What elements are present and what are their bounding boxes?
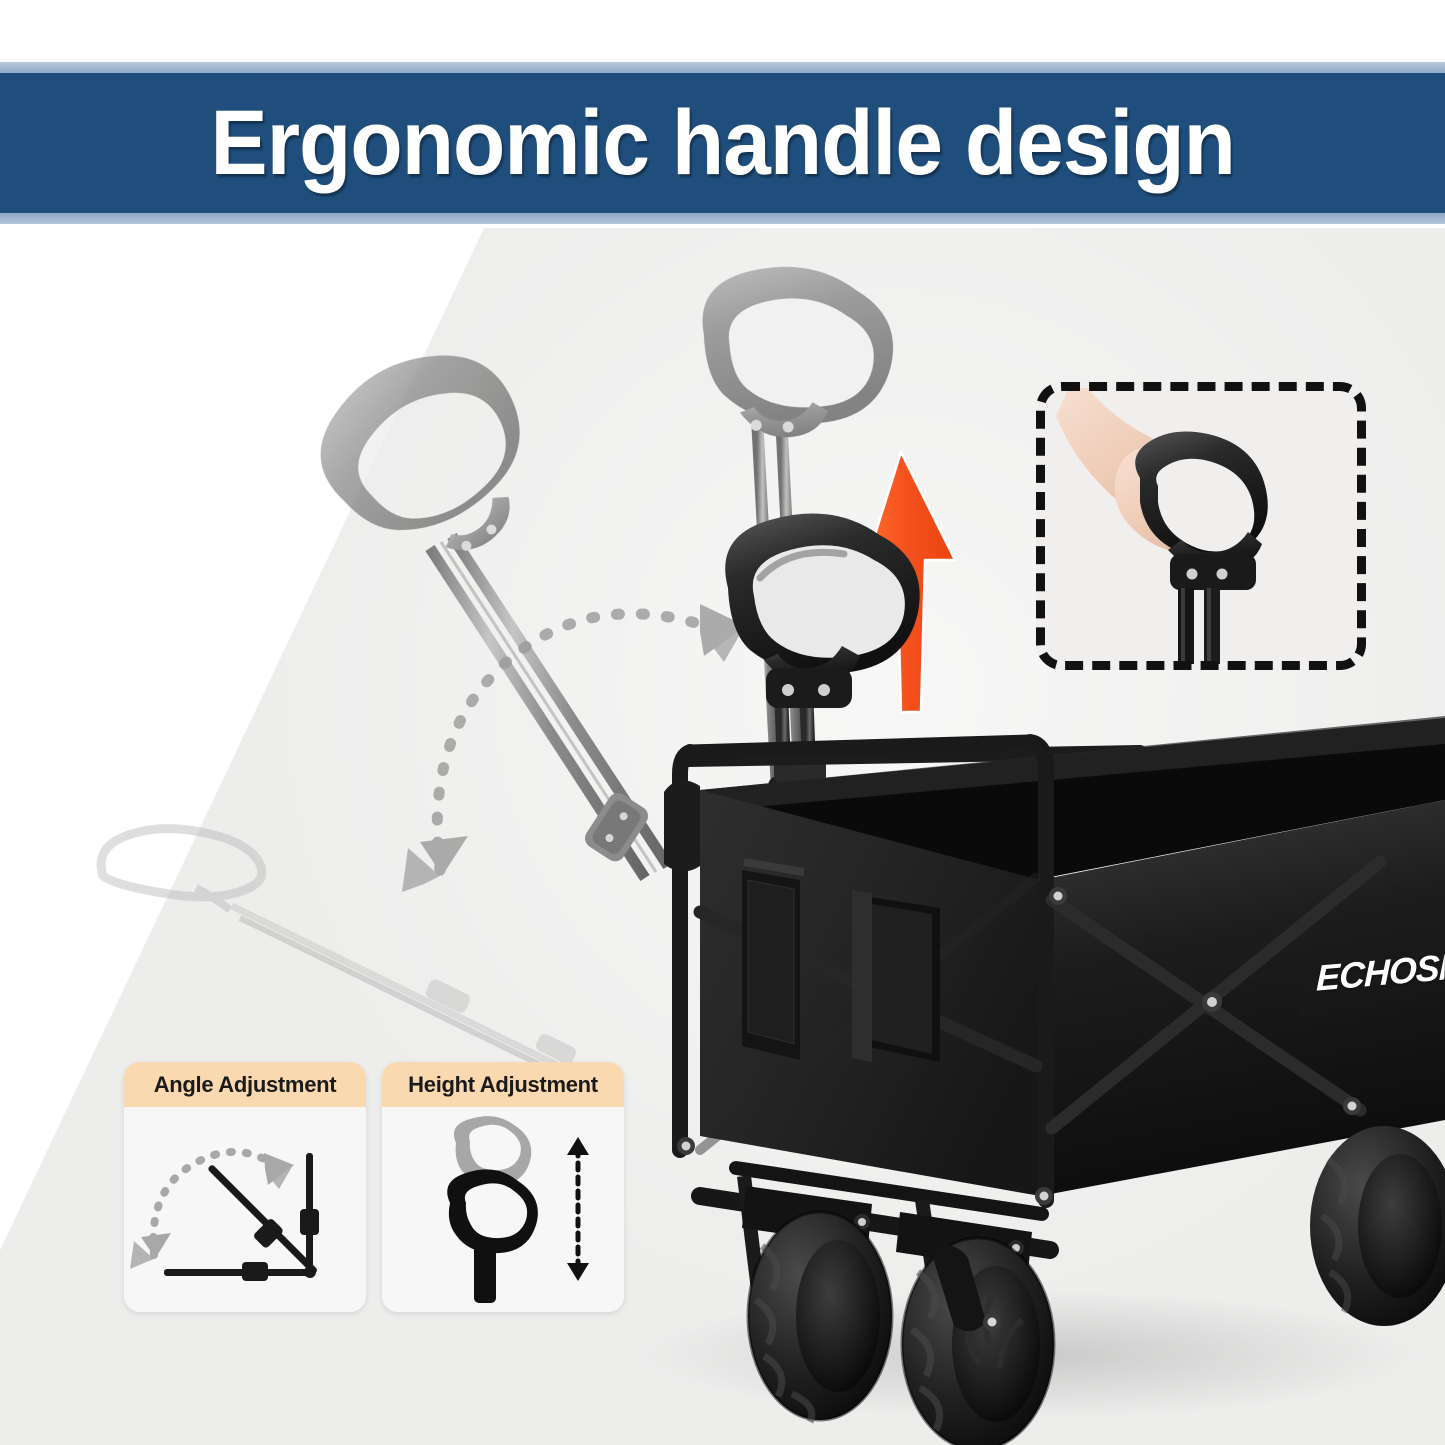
card-title-angle: Angle Adjustment — [154, 1072, 337, 1098]
card-header: Angle Adjustment — [124, 1062, 366, 1107]
inset-dashed-border — [1036, 382, 1366, 670]
card-header: Height Adjustment — [382, 1062, 624, 1107]
wheel-front-right — [902, 1238, 1054, 1445]
infographic-page: Ergonomic handle design — [0, 0, 1445, 1445]
card-title-height: Height Adjustment — [408, 1072, 598, 1098]
wheel-front-left — [748, 1212, 892, 1422]
card-body-angle — [124, 1107, 366, 1312]
angle-pivot-icon — [124, 1107, 366, 1312]
ghost-handle-lowered — [101, 829, 608, 1098]
card-body-height — [382, 1107, 624, 1312]
hand-grip-detail — [1036, 382, 1366, 670]
handle-telescoping-icon — [382, 1107, 624, 1312]
ghost-handle-angled — [293, 319, 668, 878]
feature-cards: Angle Adjustment — [124, 1062, 624, 1312]
card-height-adjustment[interactable]: Height Adjustment — [382, 1062, 624, 1312]
wheel-rear-right — [1310, 1126, 1445, 1326]
card-angle-adjustment[interactable]: Angle Adjustment — [124, 1062, 366, 1312]
